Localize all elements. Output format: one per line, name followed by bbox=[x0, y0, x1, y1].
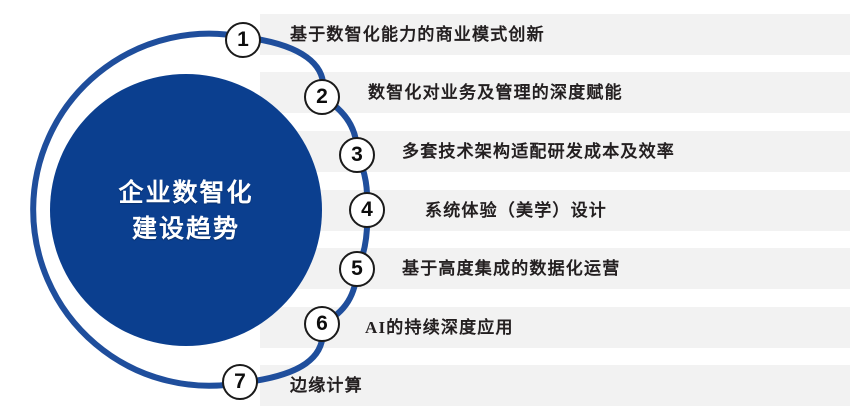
step-badge-7[interactable]: 7 bbox=[222, 364, 258, 400]
step-badge-4[interactable]: 4 bbox=[349, 192, 385, 228]
step-badge-6[interactable]: 6 bbox=[304, 306, 340, 342]
center-label-line-1: 企业数智化 bbox=[64, 176, 308, 212]
center-label-line-2: 建设趋势 bbox=[64, 212, 308, 248]
step-badge-1[interactable]: 1 bbox=[225, 22, 261, 58]
step-badge-3[interactable]: 3 bbox=[339, 137, 375, 173]
step-badge-5[interactable]: 5 bbox=[339, 251, 375, 287]
diagram-canvas: 基于数智化能力的商业模式创新 数智化对业务及管理的深度赋能 多套技术架构适配研发… bbox=[0, 0, 865, 419]
step-badge-2[interactable]: 2 bbox=[304, 79, 340, 115]
center-label: 企业数智化 建设趋势 bbox=[64, 176, 308, 248]
